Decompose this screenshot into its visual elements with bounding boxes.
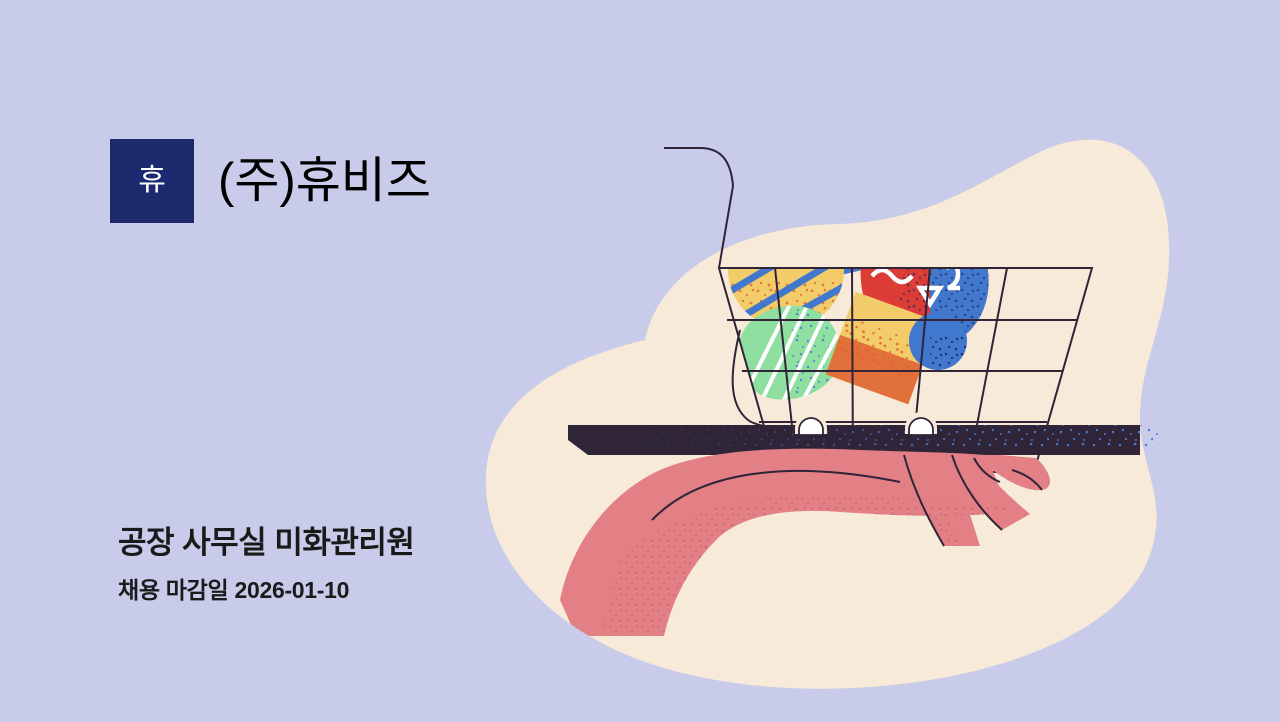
- hand-holding-shopping-cart-illustration: [0, 0, 1280, 722]
- job-deadline: 채용 마감일 2026-01-10: [118, 577, 538, 605]
- job-info-block: 공장 사무실 미화관리원 채용 마감일 2026-01-10: [118, 524, 538, 604]
- company-header: 휴 (주)휴비즈: [110, 138, 431, 224]
- company-name: (주)휴비즈: [218, 157, 431, 206]
- job-posting-card: 휴 (주)휴비즈 공장 사무실 미화관리원 채용 마감일 2026-01-10: [0, 0, 1280, 722]
- company-logo-mark: 휴: [110, 139, 194, 223]
- job-title: 공장 사무실 미화관리원: [118, 524, 538, 563]
- company-logo-glyph: 휴: [138, 166, 166, 196]
